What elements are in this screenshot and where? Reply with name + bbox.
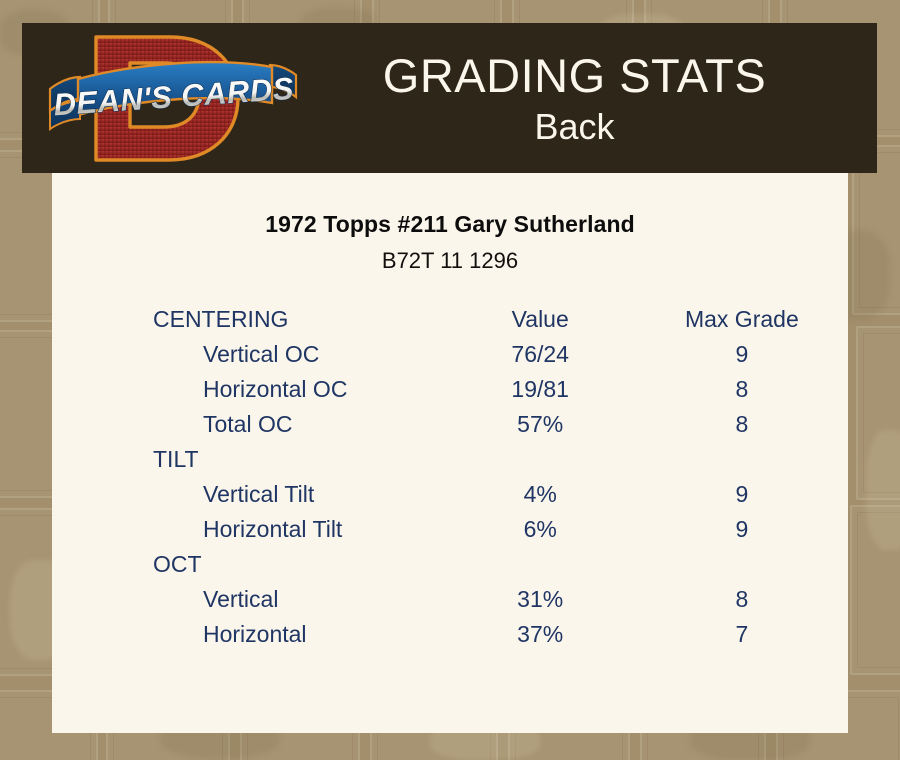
card-title: 1972 Topps #211 Gary Sutherland [52, 211, 848, 238]
stats-row: Horizontal Tilt6%9 [52, 516, 848, 551]
stats-row: Horizontal37%7 [52, 621, 848, 656]
card-identifier: B72T 11 1296 [52, 248, 848, 274]
stats-row: Vertical31%8 [52, 586, 848, 621]
stats-section-header-row: CENTERINGValueMax Grade [52, 306, 848, 341]
stats-row-max-grade: 8 [636, 376, 848, 411]
content-panel: 1972 Topps #211 Gary Sutherland B72T 11 … [52, 173, 848, 733]
stats-row-max-grade: 9 [636, 481, 848, 516]
stats-row-label: Total OC [52, 411, 445, 446]
stats-section-header-row: OCT [52, 551, 848, 586]
deans-cards-logo[interactable]: DEAN'S CARDS [44, 31, 302, 166]
stats-row-value: 57% [445, 411, 636, 446]
column-header-max-grade: Max Grade [636, 306, 848, 341]
stats-row-label: Horizontal [52, 621, 445, 656]
header-bar: DEAN'S CARDS GRADING STATS Back [22, 23, 877, 173]
page-subtitle: Back [302, 109, 847, 145]
stats-row-label: Vertical OC [52, 341, 445, 376]
stats-row-max-grade: 8 [636, 586, 848, 621]
stats-row-max-grade: 7 [636, 621, 848, 656]
stats-row-value: 31% [445, 586, 636, 621]
column-header-value: Value [445, 306, 636, 341]
stats-section-label: OCT [52, 551, 445, 586]
stats-row-value: 6% [445, 516, 636, 551]
stats-row: Vertical OC76/249 [52, 341, 848, 376]
stats-row-max-grade: 9 [636, 341, 848, 376]
stats-row-label: Vertical [52, 586, 445, 621]
stats-section-label: CENTERING [52, 306, 445, 341]
stats-row-value: 4% [445, 481, 636, 516]
stats-row: Horizontal OC19/818 [52, 376, 848, 411]
stats-row-value: 76/24 [445, 341, 636, 376]
stats-section-label: TILT [52, 446, 445, 481]
stats-row-value: 37% [445, 621, 636, 656]
header-title-block: GRADING STATS Back [302, 52, 847, 145]
stats-row-label: Horizontal OC [52, 376, 445, 411]
stats-row-label: Horizontal Tilt [52, 516, 445, 551]
stats-row-label: Vertical Tilt [52, 481, 445, 516]
stats-row: Vertical Tilt4%9 [52, 481, 848, 516]
stats-section-header-row: TILT [52, 446, 848, 481]
page-title: GRADING STATS [302, 52, 847, 99]
stats-row-max-grade: 9 [636, 516, 848, 551]
stats-row-max-grade: 8 [636, 411, 848, 446]
stats-row-value: 19/81 [445, 376, 636, 411]
grading-stats-table: CENTERINGValueMax GradeVertical OC76/249… [52, 306, 848, 656]
stats-row: Total OC57%8 [52, 411, 848, 446]
